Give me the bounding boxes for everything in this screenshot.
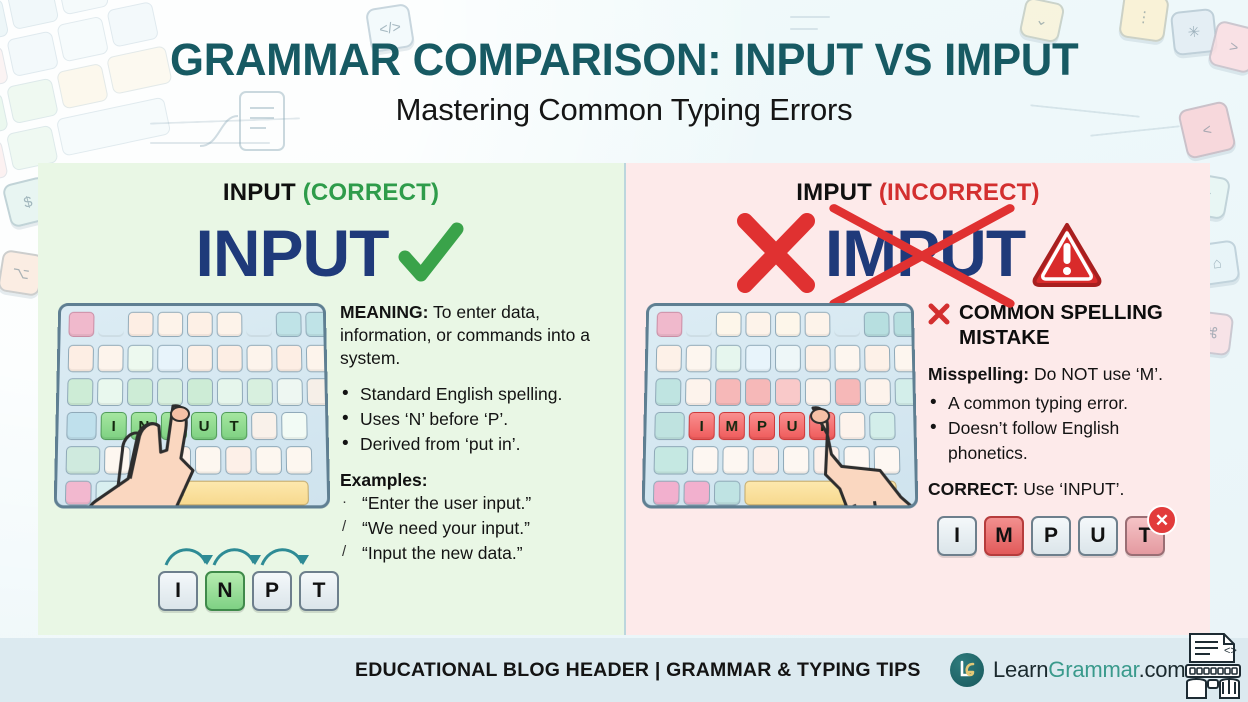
letter-tile: P (252, 571, 292, 611)
footer-caption: EDUCATIONAL BLOG HEADER | GRAMMAR & TYPI… (355, 659, 921, 682)
x-mark-icon (733, 213, 819, 293)
right-keyboard-wrap: I M P U T (644, 301, 916, 572)
examples-list: ·“Enter the user input.” /“We need your … (340, 491, 610, 566)
left-bullet-list: Standard English spelling. Uses ‘N’ befo… (340, 382, 610, 457)
left-kicker: INPUT (CORRECT) (38, 179, 624, 207)
brand-part-grammar: Grammar (1048, 657, 1138, 682)
letter-tile: I (158, 571, 198, 611)
keyboard-illustration-imput: I M P U T (642, 303, 919, 508)
example-text: “We need your input.” (362, 518, 530, 538)
right-bigword-row: IMPUT (626, 211, 1210, 295)
comparison-panels: INPUT (CORRECT) INPUT (38, 163, 1210, 635)
letter-tile: U (1078, 516, 1118, 556)
brand-lockup[interactable]: LearnGrammar.com (950, 653, 1185, 687)
warning-triangle-icon (1031, 217, 1103, 289)
right-bullet-list: A common typing error. Doesn’t follow En… (928, 391, 1196, 466)
brand-part-learn: Learn (993, 657, 1048, 682)
circle-x-icon: ✕ (1147, 505, 1177, 535)
document-keyboard-icon: <> (1184, 632, 1242, 700)
footer-bar: EDUCATIONAL BLOG HEADER | GRAMMAR & TYPI… (0, 638, 1248, 702)
header: GRAMMAR COMPARISON: INPUT VS IMPUT Maste… (0, 0, 1248, 165)
left-big-word: INPUT (196, 215, 389, 291)
page-title: GRAMMAR COMPARISON: INPUT VS IMPUT (170, 37, 1078, 82)
check-icon (395, 217, 467, 289)
left-bigword-row: INPUT (38, 211, 624, 295)
left-kicker-word: INPUT (223, 179, 303, 206)
correct-line: CORRECT: Use ‘INPUT’. (928, 479, 1196, 500)
list-item: A common typing error. (928, 391, 1196, 416)
letter-tile: M (984, 516, 1024, 556)
meaning-line: MEANING: To enter data, information, or … (340, 301, 610, 370)
letter-tiles-imput: I M P U T (937, 516, 1165, 556)
left-text-block: MEANING: To enter data, information, or … (340, 301, 624, 565)
left-keyboard-wrap: I N P U T (56, 301, 328, 565)
left-kicker-tag: (CORRECT) (303, 179, 439, 206)
left-body: I N P U T (38, 295, 624, 565)
right-body: I M P U T (626, 295, 1210, 572)
right-big-word: IMPUT (825, 215, 1025, 291)
list-item: Doesn’t follow English phonetics. (928, 416, 1196, 466)
list-item: /“Input the new data.” (340, 541, 610, 566)
correct-label: CORRECT: (928, 479, 1018, 499)
list-item: Derived from ‘put in’. (340, 432, 610, 457)
list-item: Uses ‘N’ before ‘P’. (340, 407, 610, 432)
left-panel-header: INPUT (CORRECT) INPUT (38, 163, 624, 295)
misspelling-label: Misspelling: (928, 364, 1029, 384)
letter-tile: T (299, 571, 339, 611)
letter-tiles-imput-wrap: I M P U T ✕ (928, 514, 1196, 572)
right-panel-header: IMPUT (INCORRECT) IMPUT (626, 163, 1210, 295)
list-item: /“We need your input.” (340, 516, 610, 541)
brand-part-tld: .com (1139, 657, 1186, 682)
example-marker: · (342, 491, 347, 512)
keyboard-illustration-input: I N P U T (54, 303, 331, 508)
strikethrough-x-icon (811, 199, 1041, 311)
panel-incorrect: IMPUT (INCORRECT) IMPUT (624, 163, 1210, 635)
brand-text: LearnGrammar.com (993, 657, 1185, 683)
letter-tile: P (1031, 516, 1071, 556)
learngrammar-logo-icon (950, 653, 984, 687)
list-item: ·“Enter the user input.” (340, 491, 610, 516)
panel-correct: INPUT (CORRECT) INPUT (38, 163, 624, 635)
letter-tile: I (937, 516, 977, 556)
svg-text:<>: <> (1224, 645, 1237, 657)
meaning-label: MEANING: (340, 302, 428, 322)
list-item: Standard English spelling. (340, 382, 610, 407)
letter-tiles-inpt: I N P T (158, 571, 339, 611)
correct-text: Use ‘INPUT’. (1018, 479, 1124, 499)
letter-tile: N (205, 571, 245, 611)
misspelling-line: Misspelling: Do NOT use ‘M’. (928, 363, 1196, 387)
sequence-arrows (156, 543, 356, 571)
example-text: “Enter the user input.” (362, 493, 531, 513)
example-marker: / (342, 516, 346, 537)
example-text: “Input the new data.” (362, 543, 523, 563)
right-text-block: COMMON SPELLING MISTAKE Misspelling: Do … (928, 301, 1210, 572)
infographic-canvas: </> ⌄ ⋮ ✳ > < ⇧ ⌂ $ ⌥ ⌘ GRAMMAR COMPARIS… (0, 0, 1248, 702)
examples-label: Examples: (340, 470, 610, 491)
page-subtitle: Mastering Common Typing Errors (396, 92, 853, 128)
misspelling-text: Do NOT use ‘M’. (1029, 364, 1163, 384)
